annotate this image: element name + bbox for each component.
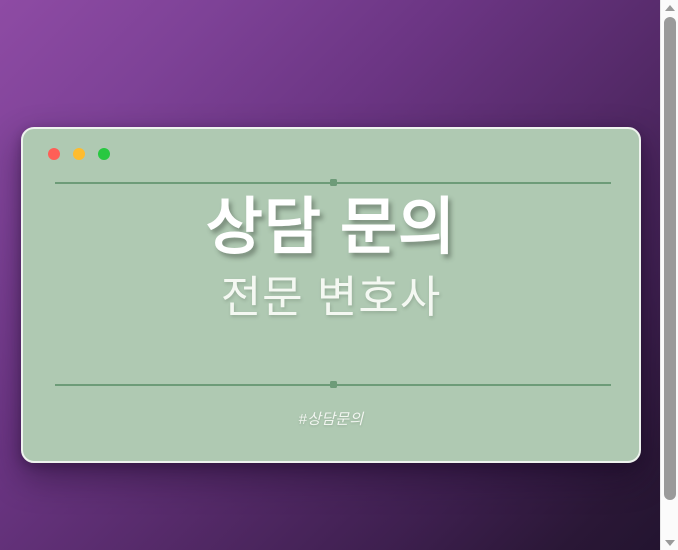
page-canvas: 상담 문의 전문 변호사 #상담문의 (0, 0, 660, 550)
vertical-scrollbar[interactable] (660, 0, 678, 550)
card-title: 상담 문의 (23, 193, 639, 262)
triangle-up-icon (665, 5, 675, 11)
card-subtitle: 전문 변호사 (23, 273, 639, 324)
card-text-block: 상담 문의 전문 변호사 (23, 193, 639, 324)
viewport: 상담 문의 전문 변호사 #상담문의 (0, 0, 678, 550)
scroll-up-arrow-icon[interactable] (661, 0, 678, 15)
divider-center-dot (330, 381, 337, 388)
maximize-button[interactable] (98, 148, 110, 160)
triangle-down-icon (665, 540, 675, 546)
divider-bottom (55, 379, 611, 390)
close-button[interactable] (48, 148, 60, 160)
window-controls (48, 148, 110, 160)
scrollbar-thumb[interactable] (664, 17, 676, 500)
card-hashtag: #상담문의 (23, 408, 639, 429)
scroll-down-arrow-icon[interactable] (661, 535, 678, 550)
minimize-button[interactable] (73, 148, 85, 160)
presentation-card: 상담 문의 전문 변호사 #상담문의 (21, 127, 641, 463)
divider-center-dot (330, 179, 337, 186)
divider-top (55, 177, 611, 188)
